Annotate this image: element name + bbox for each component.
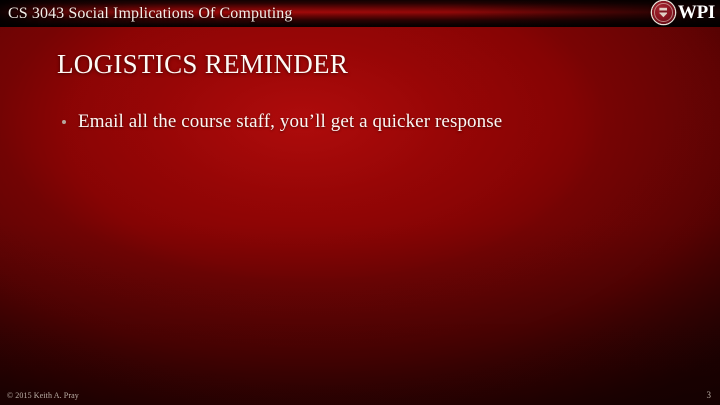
slide-header-bar: CS 3043 Social Implications Of Computing: [0, 0, 720, 27]
seal-shield-bar: [660, 10, 667, 12]
wpi-seal-icon: [652, 1, 675, 24]
copyright-notice: © 2015 Keith A. Pray: [7, 390, 79, 401]
list-item-label: Email all the course staff, you’ll get a…: [78, 111, 502, 132]
bullet-dot-icon: [62, 120, 66, 124]
presentation-slide: CS 3043 Social Implications Of Computing…: [0, 0, 720, 405]
wpi-wordmark: WPI: [678, 2, 715, 23]
wpi-logo: WPI: [652, 1, 715, 24]
slide-title: LOGISTICS REMINDER: [57, 48, 348, 80]
bullet-list: Email all the course staff, you’ll get a…: [59, 108, 680, 136]
list-item: Email all the course staff, you’ll get a…: [59, 108, 680, 136]
page-number: 3: [707, 390, 712, 401]
course-title: CS 3043 Social Implications Of Computing: [8, 2, 292, 25]
